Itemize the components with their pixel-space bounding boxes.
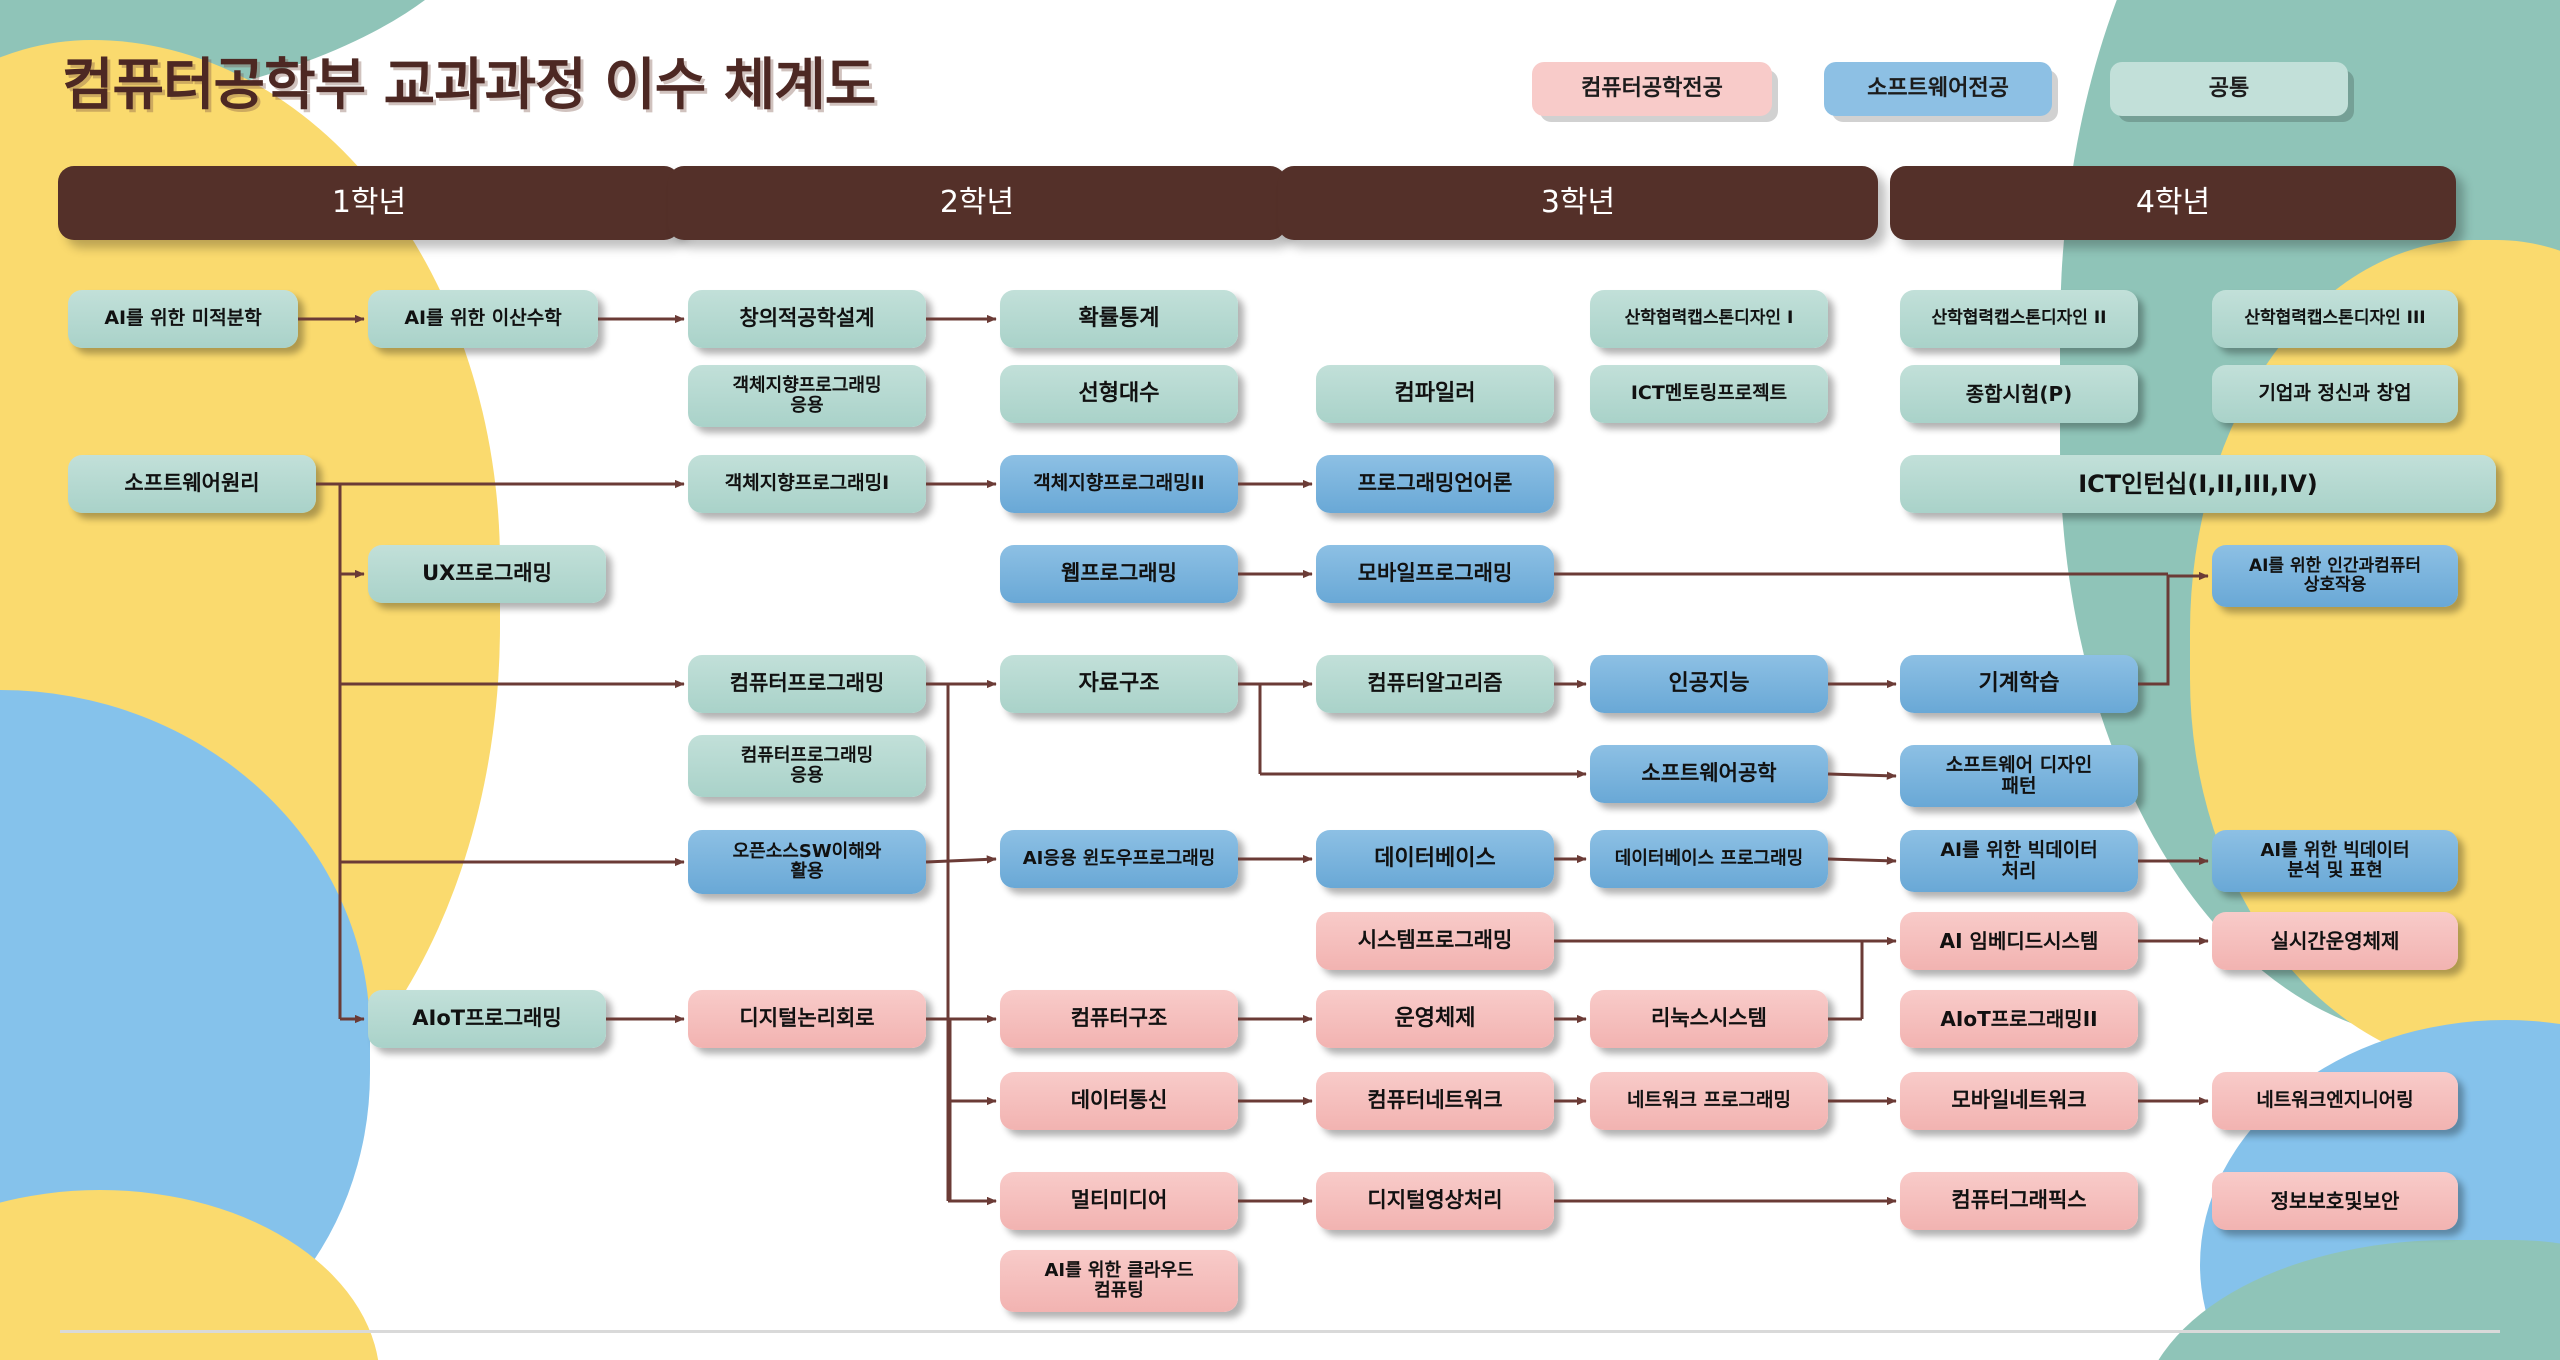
course-label: 창의적공학설계 (739, 307, 874, 331)
course-label: 소프트웨어원리 (124, 472, 259, 496)
course-node-c38[interactable]: 소프트웨어공학 (1590, 745, 1828, 803)
course-node-c39[interactable]: 데이터베이스 프로그래밍 (1590, 830, 1828, 888)
course-label: 기계학습 (1979, 672, 2060, 697)
course-node-c03[interactable]: 창의적공학설계 (688, 290, 926, 348)
course-node-c16[interactable]: AI응용 윈도우프로그래밍 (1000, 830, 1238, 888)
course-label: AI를 위한 인간과컴퓨터상호작용 (2249, 557, 2421, 595)
year-header-2: 2학년 (668, 166, 1286, 240)
course-label: 객체지향프로그래밍I (725, 473, 889, 494)
course-node-c20[interactable]: 데이터통신 (1000, 1072, 1238, 1130)
course-label: 선형대수 (1079, 382, 1160, 407)
course-label: AI를 위한 클라우드컴퓨팅 (1044, 1261, 1193, 1301)
course-label: 컴퓨터프로그래밍 (730, 672, 885, 696)
course-node-c53[interactable]: 실시간운영체제 (2212, 912, 2458, 970)
course-label: AI를 위한 이산수학 (404, 308, 561, 329)
course-label: 컴파일러 (1395, 382, 1476, 407)
course-node-c25[interactable]: 모바일프로그래밍 (1316, 545, 1554, 603)
course-node-c22[interactable]: AI를 위한 클라우드컴퓨팅 (1000, 1250, 1238, 1312)
course-node-c06[interactable]: 선형대수 (1000, 365, 1238, 423)
course-node-c12[interactable]: 컴퓨터프로그래밍 (688, 655, 926, 713)
course-node-c50[interactable]: 컴퓨터그래픽스 (1900, 1172, 2138, 1230)
course-node-c48[interactable]: AIoT프로그래밍II (1900, 990, 2138, 1048)
course-label: 객체지향프로그래밍응용 (732, 376, 881, 416)
course-node-c17[interactable]: AIoT프로그래밍 (368, 990, 606, 1048)
course-node-c47[interactable]: AI 임베디드시스템 (1900, 912, 2138, 970)
course-node-c31[interactable]: 디지털영상처리 (1316, 1172, 1554, 1230)
course-node-c09[interactable]: 객체지향프로그래밍II (1000, 455, 1238, 513)
year-header-4: 4학년 (1890, 166, 2456, 240)
course-label: ICT멘토링프로젝트 (1631, 383, 1787, 404)
course-node-c29[interactable]: 운영체제 (1316, 990, 1554, 1048)
course-node-c36[interactable]: ICT인턴십(I,II,III,IV) (1900, 455, 2496, 513)
course-node-c18[interactable]: 디지털논리회로 (688, 990, 926, 1048)
course-label: 산학협력캡스톤디자인 II (1932, 309, 2107, 328)
course-node-c46[interactable]: AI를 위한 빅데이터처리 (1900, 830, 2138, 892)
course-label: AI를 위한 빅데이터분석 및 표현 (2260, 841, 2409, 881)
course-node-c35[interactable]: 종합시험(P) (1900, 365, 2138, 423)
course-node-c23[interactable]: 컴파일러 (1316, 365, 1554, 423)
course-label: AI를 위한 미적분학 (104, 308, 261, 329)
course-node-c30[interactable]: 컴퓨터네트워크 (1316, 1072, 1554, 1130)
course-node-c42[interactable]: 산학협력캡스톤디자인 III (2212, 290, 2458, 348)
course-node-c26[interactable]: 컴퓨터알고리즘 (1316, 655, 1554, 713)
course-label: UX프로그래밍 (422, 562, 552, 586)
course-label: 리눅스시스템 (1651, 1007, 1767, 1031)
course-node-c49[interactable]: 모바일네트워크 (1900, 1072, 2138, 1130)
course-label: 소프트웨어공학 (1641, 762, 1776, 786)
course-label: 네트워크 프로그래밍 (1627, 1090, 1791, 1111)
course-label: 데이터베이스 (1374, 847, 1495, 872)
course-node-c34[interactable]: 산학협력캡스톤디자인 II (1900, 290, 2138, 348)
course-label: 웹프로그래밍 (1061, 562, 1177, 586)
legend-chip-cse: 컴퓨터공학전공 (1532, 62, 1772, 116)
course-label: 종합시험(P) (1966, 383, 2073, 405)
course-node-c19[interactable]: 컴퓨터구조 (1000, 990, 1238, 1048)
course-label: 자료구조 (1079, 672, 1160, 697)
course-label: 멀티미디어 (1071, 1189, 1168, 1213)
course-label: AIoT프로그래밍 (412, 1007, 561, 1031)
year-header-1: 1학년 (58, 166, 680, 240)
course-node-c32[interactable]: 산학협력캡스톤디자인 I (1590, 290, 1828, 348)
course-node-c08[interactable]: 객체지향프로그래밍I (688, 455, 926, 513)
course-label: 기업과 정신과 창업 (2258, 383, 2411, 404)
course-node-c24[interactable]: 프로그래밍언어론 (1316, 455, 1554, 513)
course-node-c44[interactable]: 기계학습 (1900, 655, 2138, 713)
course-label: 컴퓨터알고리즘 (1367, 672, 1502, 696)
course-label: 컴퓨터구조 (1071, 1007, 1168, 1031)
course-label: 컴퓨터프로그래밍응용 (741, 746, 873, 786)
course-label: 인공지능 (1669, 672, 1750, 697)
course-label: 데이터베이스 프로그래밍 (1615, 849, 1803, 869)
curriculum-roadmap: 컴퓨터공학부 교과과정 이수 체계도 컴퓨터공학전공소프트웨어전공공통1학년2학… (0, 0, 2560, 1360)
course-node-c15[interactable]: 오픈소스SW이해와활용 (688, 830, 926, 894)
course-node-c07[interactable]: 소프트웨어원리 (68, 455, 316, 513)
course-label: 디지털영상처리 (1367, 1189, 1502, 1213)
course-node-c13[interactable]: 컴퓨터프로그래밍응용 (688, 735, 926, 797)
course-label: 모바일프로그래밍 (1358, 562, 1513, 586)
course-label: AI 임베디드시스템 (1940, 930, 2099, 952)
course-label: 운영체제 (1395, 1007, 1476, 1032)
course-label: 컴퓨터그래픽스 (1951, 1189, 2086, 1213)
course-label: 객체지향프로그래밍II (1033, 473, 1204, 494)
course-node-c54[interactable]: 네트워크엔지니어링 (2212, 1072, 2458, 1130)
course-node-c40[interactable]: 리눅스시스템 (1590, 990, 1828, 1048)
course-node-c02[interactable]: AI를 위한 이산수학 (368, 290, 598, 348)
course-label: ICT인턴십(I,II,III,IV) (2078, 471, 2318, 498)
course-label: 오픈소스SW이해와활용 (733, 842, 882, 882)
course-node-c05[interactable]: 객체지향프로그래밍응용 (688, 365, 926, 427)
course-node-c10[interactable]: UX프로그래밍 (368, 545, 606, 603)
course-node-c55[interactable]: 정보보호및보안 (2212, 1172, 2458, 1230)
course-label: 데이터통신 (1071, 1089, 1168, 1113)
course-node-c51[interactable]: AI를 위한 인간과컴퓨터상호작용 (2212, 545, 2458, 607)
course-label: AIoT프로그래밍II (1940, 1008, 2097, 1030)
course-label: 컴퓨터네트워크 (1367, 1089, 1502, 1113)
course-node-c21[interactable]: 멀티미디어 (1000, 1172, 1238, 1230)
page-title: 컴퓨터공학부 교과과정 이수 체계도 (62, 40, 875, 121)
course-node-c41[interactable]: 네트워크 프로그래밍 (1590, 1072, 1828, 1130)
course-node-c01[interactable]: AI를 위한 미적분학 (68, 290, 298, 348)
course-node-c14[interactable]: 자료구조 (1000, 655, 1238, 713)
course-label: 시스템프로그래밍 (1358, 929, 1513, 953)
course-label: 모바일네트워크 (1951, 1089, 2086, 1113)
course-node-c33[interactable]: ICT멘토링프로젝트 (1590, 365, 1828, 423)
course-label: 확률통계 (1079, 307, 1160, 332)
course-label: 산학협력캡스톤디자인 III (2244, 309, 2425, 328)
course-node-c04[interactable]: 확률통계 (1000, 290, 1238, 348)
year-header-3: 3학년 (1278, 166, 1878, 240)
course-label: 디지털논리회로 (739, 1007, 874, 1031)
footer-divider (60, 1330, 2500, 1333)
course-node-c45[interactable]: 소프트웨어 디자인패턴 (1900, 745, 2138, 807)
course-label: 소프트웨어 디자인패턴 (1946, 755, 2092, 798)
course-label: 산학협력캡스톤디자인 I (1625, 309, 1794, 328)
course-node-c43[interactable]: 기업과 정신과 창업 (2212, 365, 2458, 423)
course-node-c52[interactable]: AI를 위한 빅데이터분석 및 표현 (2212, 830, 2458, 892)
legend-chip-sw: 소프트웨어전공 (1824, 62, 2052, 116)
course-label: 프로그래밍언어론 (1358, 472, 1513, 496)
legend-chip-common: 공통 (2110, 62, 2348, 116)
course-node-c27[interactable]: 데이터베이스 (1316, 830, 1554, 888)
course-label: AI응용 윈도우프로그래밍 (1023, 849, 1216, 869)
course-label: 실시간운영체제 (2271, 930, 2400, 952)
course-node-c37[interactable]: 인공지능 (1590, 655, 1828, 713)
course-label: 네트워크엔지니어링 (2256, 1090, 2413, 1111)
course-node-c11[interactable]: 웹프로그래밍 (1000, 545, 1238, 603)
course-label: AI를 위한 빅데이터처리 (1940, 840, 2097, 883)
course-label: 정보보호및보안 (2271, 1190, 2400, 1212)
course-node-c28[interactable]: 시스템프로그래밍 (1316, 912, 1554, 970)
